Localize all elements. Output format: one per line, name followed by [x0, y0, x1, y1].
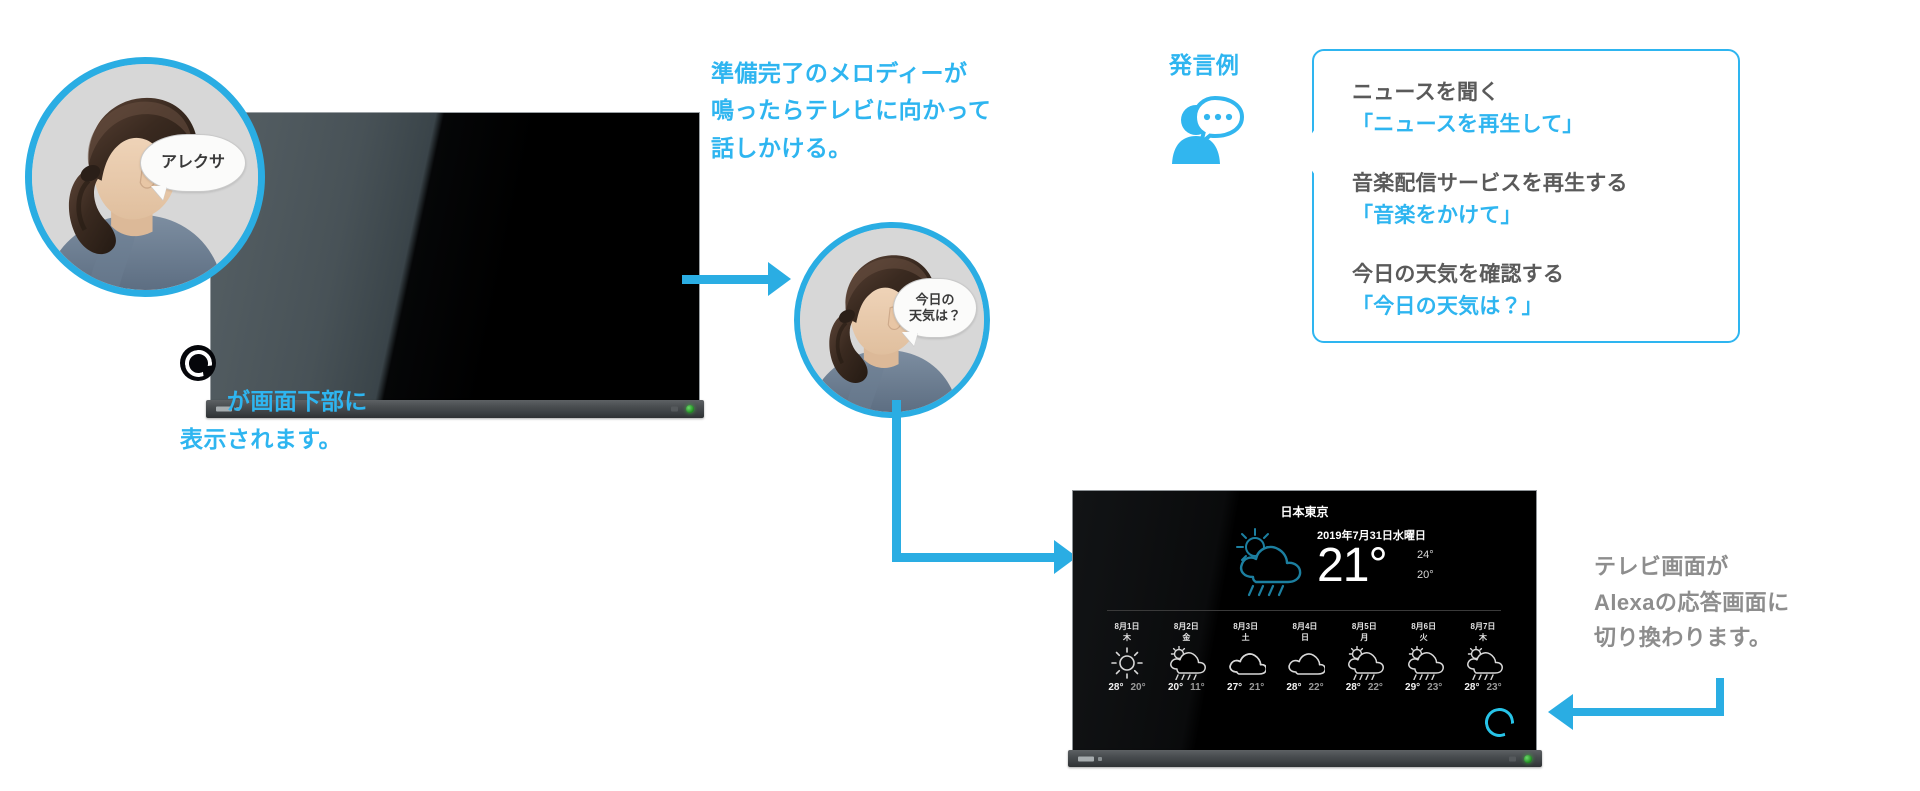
- weather-divider: [1107, 610, 1501, 611]
- forecast-weekday: 月: [1360, 632, 1368, 643]
- forecast-high: 29°: [1405, 682, 1420, 693]
- power-led-indicator: [1524, 755, 1532, 763]
- person-circle-question: 今日の 天気は？: [794, 222, 990, 418]
- example-heading-1: ニュースを聞く: [1352, 77, 1738, 109]
- speech-bubble-question-tail: [902, 332, 918, 346]
- arrow-result-head: [1548, 694, 1573, 730]
- example-item-3: 今日の天気を確認する 「今日の天気は？」: [1352, 259, 1738, 322]
- cloud-icon: [1285, 646, 1325, 680]
- weather-city: 日本東京: [1073, 503, 1536, 520]
- example-command-3: 「今日の天気は？」: [1352, 291, 1738, 323]
- forecast-date: 8月7日: [1471, 621, 1496, 632]
- sun-rain-cloud-icon: [1404, 646, 1444, 680]
- cloud-icon: [1226, 646, 1266, 680]
- result-text: テレビ画面が Alexaの応答画面に 切り換わります。: [1594, 549, 1894, 656]
- forecast-weekday: 木: [1479, 632, 1487, 643]
- forecast-date: 8月3日: [1233, 621, 1258, 632]
- weather-forecast-row: 8月1日 木 28°20°: [1099, 621, 1511, 693]
- alexa-indicator-note-line2: 表示されます。: [180, 426, 342, 452]
- forecast-date: 8月5日: [1352, 621, 1377, 632]
- figure-canvas: アレクサ が画面下部に 表示されます。 準備完了のメロディーが 鳴ったらテレビに…: [0, 0, 1920, 791]
- sun-icon: [1109, 646, 1145, 680]
- ir-sensor-icon: [1509, 756, 1516, 761]
- example-item-2: 音楽配信サービスを再生する 「音楽をかけて」: [1352, 168, 1738, 231]
- forecast-day: 8月6日 火: [1396, 621, 1452, 693]
- forecast-low: 11°: [1190, 682, 1205, 693]
- forecast-date: 8月1日: [1115, 621, 1140, 632]
- forecast-low: 23°: [1486, 682, 1501, 693]
- forecast-low: 21°: [1249, 682, 1264, 693]
- forecast-date: 8月4日: [1293, 621, 1318, 632]
- alexa-weather-response: 日本東京: [1073, 491, 1536, 751]
- speech-bubble-text: アレクサ: [161, 153, 225, 173]
- forecast-low: 22°: [1368, 682, 1383, 693]
- weather-current-icon: [1223, 525, 1313, 597]
- speech-bubble-wake-word: アレクサ: [140, 134, 246, 192]
- forecast-high: 28°: [1464, 682, 1479, 693]
- tv-brand-mark: [1098, 757, 1102, 761]
- example-item-1: ニュースを聞く 「ニュースを再生して」: [1352, 77, 1738, 140]
- example-heading-3: 今日の天気を確認する: [1352, 259, 1738, 291]
- alexa-ring-icon-on-screen: [1482, 705, 1516, 739]
- tv-brand-logo: [1078, 756, 1094, 761]
- example-command-1: 「ニュースを再生して」: [1352, 109, 1738, 141]
- speech-bubble-question-line2: 天気は？: [909, 308, 961, 324]
- tv-weather-bezel: [1068, 750, 1542, 767]
- arrow-tv-to-person-head: [768, 262, 791, 296]
- ir-sensor-icon: [671, 407, 678, 412]
- tv-weather-stand: [1068, 750, 1542, 767]
- tv-weather: 日本東京: [1072, 490, 1537, 752]
- forecast-weekday: 日: [1301, 632, 1309, 643]
- instruction-text: 準備完了のメロディーが 鳴ったらテレビに向かって 話しかける。: [711, 55, 1051, 167]
- forecast-day: 8月5日 月: [1336, 621, 1392, 693]
- weather-high-temp: 24°: [1417, 549, 1434, 561]
- forecast-day: 8月4日 日 28°22°: [1277, 621, 1333, 693]
- forecast-day: 8月1日 木 28°20°: [1099, 621, 1155, 693]
- forecast-low: 20°: [1131, 682, 1146, 693]
- forecast-day: 8月7日 木: [1455, 621, 1511, 693]
- forecast-high: 28°: [1108, 682, 1123, 693]
- forecast-weekday: 金: [1182, 632, 1190, 643]
- forecast-weekday: 土: [1242, 632, 1250, 643]
- person-circle-wake-word: アレクサ: [25, 57, 265, 297]
- forecast-weekday: 木: [1123, 632, 1131, 643]
- speaker-person-icon: [1168, 96, 1246, 164]
- examples-label: 発言例: [1169, 47, 1239, 84]
- example-heading-2: 音楽配信サービスを再生する: [1352, 168, 1738, 200]
- alexa-indicator-note-2: 表示されます。: [180, 384, 342, 459]
- sun-rain-cloud-icon: [1166, 646, 1206, 680]
- forecast-high: 27°: [1227, 682, 1242, 693]
- forecast-day: 8月3日 土 27°21°: [1218, 621, 1274, 693]
- speech-bubble-tail: [151, 186, 167, 200]
- example-command-2: 「音楽をかけて」: [1352, 200, 1738, 232]
- sun-rain-cloud-icon: [1463, 646, 1503, 680]
- speech-bubble-question-line1: 今日の: [915, 292, 954, 308]
- arrow-tv-to-person-shaft: [682, 275, 770, 284]
- forecast-date: 8月6日: [1411, 621, 1436, 632]
- alexa-ring-badge: [180, 345, 216, 381]
- arrow-elbow-vertical: [892, 400, 901, 562]
- speech-bubble-question: 今日の 天気は？: [893, 278, 977, 338]
- forecast-high: 20°: [1168, 682, 1183, 693]
- callout-notch: [1299, 129, 1315, 175]
- forecast-date: 8月2日: [1174, 621, 1199, 632]
- power-led-indicator: [686, 405, 694, 413]
- sun-rain-cloud-icon: [1344, 646, 1384, 680]
- forecast-day: 8月2日 金: [1158, 621, 1214, 693]
- forecast-weekday: 火: [1420, 632, 1428, 643]
- weather-low-temp: 20°: [1417, 569, 1434, 581]
- weather-current-temp: 21°: [1317, 538, 1387, 593]
- tv-weather-screen: 日本東京: [1072, 490, 1537, 752]
- forecast-low: 22°: [1308, 682, 1323, 693]
- forecast-low: 23°: [1427, 682, 1442, 693]
- arrow-elbow-horizontal: [892, 553, 1064, 562]
- examples-callout: ニュースを聞く 「ニュースを再生して」 音楽配信サービスを再生する 「音楽をかけ…: [1312, 49, 1740, 343]
- forecast-high: 28°: [1346, 682, 1361, 693]
- forecast-high: 28°: [1286, 682, 1301, 693]
- arrow-result-horizontal: [1573, 708, 1724, 716]
- alexa-ring-icon: [183, 348, 213, 378]
